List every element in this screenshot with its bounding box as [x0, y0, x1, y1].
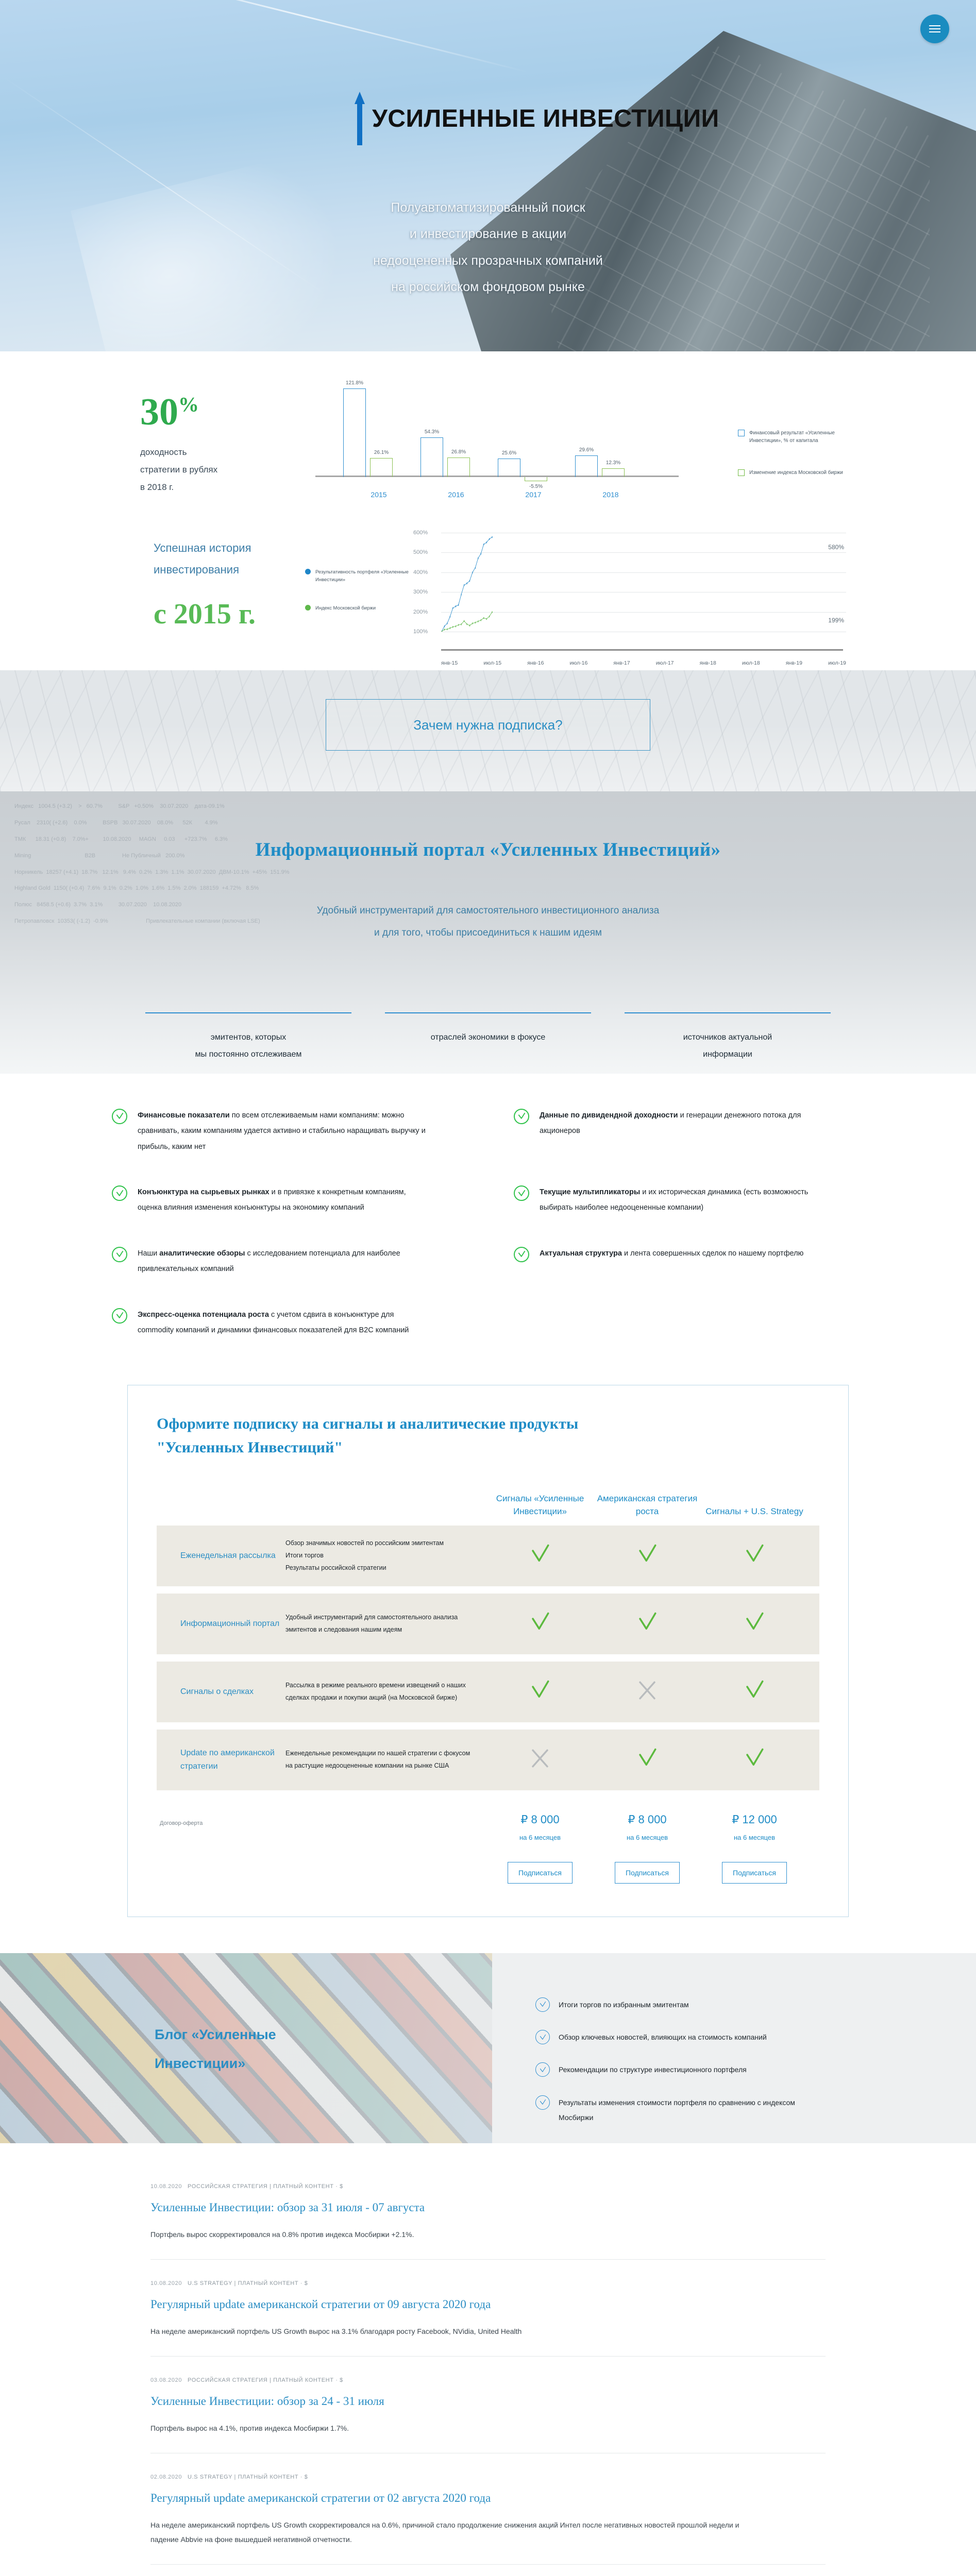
pricing-row-description: Удобный инструментарий для самостоятельн…: [285, 1612, 486, 1636]
x-tick-янв-19: янв-19: [786, 660, 802, 666]
feature-highlight: Экспресс-оценка потенциала роста: [138, 1311, 269, 1319]
paid-badge: $: [340, 2377, 343, 2383]
history-since: с 2015 г.: [154, 598, 305, 631]
feature-text: Актуальная структура и лента совершенных…: [540, 1246, 803, 1261]
pricing-row: Сигналы о сделкахРассылка в режиме реаль…: [157, 1662, 819, 1722]
check-icon: [744, 1612, 765, 1633]
data-point: [475, 622, 476, 623]
post-date: 02.08.2020: [150, 2474, 182, 2480]
pricing-mark-check: [594, 1544, 701, 1568]
pricing-mark-check: [701, 1612, 808, 1636]
check-icon: [744, 1680, 765, 1701]
feature-highlight: Данные по дивидендной доходности: [540, 1111, 678, 1120]
price-combo-period: на 6 месяцев: [701, 1834, 808, 1841]
feature-item: Наши аналитические обзоры с исследование…: [112, 1246, 462, 1277]
check-icon: [529, 1612, 551, 1633]
feature-item: Данные по дивидендной доходности и генер…: [514, 1108, 864, 1155]
legend-item-strategy: Финансовый результат «Усиленные Инвестиц…: [738, 429, 867, 445]
x-axis-ticks: янв-15июл-15янв-16июл-16янв-17июл-17янв-…: [441, 660, 846, 666]
check-circle-icon: [112, 1247, 127, 1262]
portal-title: Информационный портал «Усиленных Инвести…: [0, 839, 976, 861]
counter-issuers-caption: эмитентов, которых мы постоянно отслежив…: [145, 1029, 351, 1063]
x-tick-июл-17: июл-17: [656, 660, 674, 666]
check-icon: [636, 1748, 658, 1769]
bar-value-label: 25.6%: [502, 450, 516, 456]
bar-chart-row: 30% доходность стратегии в рублях в 2018…: [109, 380, 867, 510]
hero-subtitle-line-4: на российском фондовом рынке: [176, 274, 800, 300]
bar-2015-index: 26.1%: [370, 458, 393, 477]
y-tick-400%: 400%: [413, 569, 428, 575]
blog-banner-section: Блог «Усиленные Инвестиции» Итоги торгов…: [0, 1953, 976, 2143]
pricing-mark-check: [594, 1748, 701, 1772]
post-item: 10.08.2020 U.S STRATEGY | ПЛАТНЫЙ КОНТЕН…: [150, 2280, 826, 2357]
post-category[interactable]: РОССИЙСКАЯ СТРАТЕГИЯ | ПЛАТНЫЙ КОНТЕНТ: [188, 2183, 334, 2190]
feature-item: Экспресс-оценка потенциала роста с учето…: [112, 1307, 462, 1338]
post-title[interactable]: Усиленные Инвестиции: обзор за 31 июля -…: [150, 2201, 826, 2214]
data-point: [475, 567, 476, 568]
pricing-row-description: Еженедельные рекомендации по нашей страт…: [285, 1748, 486, 1772]
counter-sources-caption: источников актуальной информации: [625, 1029, 831, 1063]
pricing-subscribe-row: Подписаться Подписаться Подписаться: [157, 1862, 819, 1884]
blog-benefit-text: Обзор ключевых новостей, влияющих на сто…: [559, 2030, 767, 2045]
pricing-row: Update по американской стратегииЕженедел…: [157, 1730, 819, 1790]
subscribe-cell-us-growth: Подписаться: [594, 1862, 701, 1884]
data-point: [458, 624, 459, 625]
performance-section: 30% доходность стратегии в рублях в 2018…: [0, 351, 976, 670]
legend-label-strategy: Финансовый результат «Усиленные Инвестиц…: [749, 429, 867, 445]
why-subscribe-button[interactable]: Зачем нужна подписка?: [326, 699, 650, 751]
feature-highlight: Финансовые показатели: [138, 1111, 230, 1120]
check-circle-icon: [514, 1185, 529, 1201]
data-point: [447, 629, 447, 630]
check-icon: [529, 1680, 551, 1701]
x-tick-июл-19: июл-19: [828, 660, 846, 666]
data-point: [456, 625, 456, 627]
bar-value-label: 121.8%: [346, 380, 363, 386]
data-point: [444, 625, 445, 627]
pricing-row: Информационный порталУдобный инструмента…: [157, 1594, 819, 1654]
post-date: 03.08.2020: [150, 2377, 182, 2383]
pricing-prices-row: Договор-оферта ₽ 8 000 на 6 месяцев ₽ 8 …: [157, 1813, 819, 1841]
pricing-row: Еженедельная рассылкаОбзор значимых ново…: [157, 1526, 819, 1586]
gridline: [441, 592, 846, 592]
legend-dot-green: [305, 605, 311, 611]
feature-item: Финансовые показатели по всем отслеживае…: [112, 1108, 462, 1155]
feature-item: Текущие мультипликаторы и их историческа…: [514, 1184, 864, 1216]
gridline: [441, 552, 846, 553]
pricing-row-name: Информационный портал: [157, 1606, 285, 1642]
line-chart-card: Успешная история инвестирования с 2015 г…: [0, 523, 976, 670]
data-point: [452, 607, 453, 609]
feature-text: Экспресс-оценка потенциала роста с учето…: [138, 1307, 426, 1338]
paid-badge: $: [305, 2280, 308, 2286]
end-label-1: 199%: [828, 617, 844, 624]
pricing-mark-check: [486, 1544, 594, 1568]
hero-subtitle: Полуавтоматизированный поиск и инвестиро…: [176, 195, 800, 300]
returns-headline: 30%: [140, 394, 315, 430]
post-meta: 10.08.2020 РОССИЙСКАЯ СТРАТЕГИЯ | ПЛАТНЫ…: [150, 2183, 826, 2190]
counter-industries-caption: отраслей экономики в фокусе: [385, 1029, 591, 1046]
history-title: Успешная история инвестирования: [154, 537, 305, 581]
post-category[interactable]: РОССИЙСКАЯ СТРАТЕГИЯ | ПЛАТНЫЙ КОНТЕНТ: [188, 2377, 334, 2383]
site-logo[interactable]: УСИЛЕННЫЕ ИНВЕСТИЦИИ: [176, 92, 800, 145]
data-point: [450, 627, 450, 629]
blog-benefit-item: Итоги торгов по избранным эмитентам: [535, 1997, 976, 2012]
subscribe-button-combo[interactable]: Подписаться: [722, 1862, 787, 1884]
portal-header: Информационный портал «Усиленных Инвести…: [0, 839, 976, 944]
bar-2016-strategy: 54.3%: [420, 437, 443, 477]
hero-content: УСИЛЕННЫЕ ИНВЕСТИЦИИ Полуавтоматизирован…: [176, 0, 800, 300]
y-tick-500%: 500%: [413, 549, 428, 555]
hero-subtitle-line-3: недооцененных прозрачных компаний: [176, 248, 800, 274]
hero-section: УСИЛЕННЫЕ ИНВЕСТИЦИИ Полуавтоматизирован…: [0, 0, 976, 351]
shipping-containers-photo: Блог «Усиленные Инвестиции»: [0, 1953, 492, 2143]
legend-label-index: Изменение индекса Московской биржи: [749, 469, 843, 477]
cross-icon: [529, 1748, 551, 1769]
legend-item-index: Изменение индекса Московской биржи: [738, 469, 867, 477]
pricing-row-name: Еженедельная рассылка: [157, 1538, 285, 1574]
pricing-section: Оформите подписку на сигналы и аналитиче…: [0, 1380, 976, 1953]
bar-value-label: 12.3%: [606, 460, 620, 466]
data-point: [478, 557, 478, 559]
post-item: 03.08.2020 РОССИЙСКАЯ СТРАТЕГИЯ | ПЛАТНЫ…: [150, 2377, 826, 2453]
feature-highlight: аналитические обзоры: [159, 1249, 245, 1258]
pricing-row-name: Сигналы о сделках: [157, 1674, 285, 1710]
data-point: [442, 631, 442, 632]
feature-highlight: Текущие мультипликаторы: [540, 1188, 640, 1196]
data-point: [483, 544, 484, 545]
y-tick-300%: 300%: [413, 589, 428, 595]
post-date: 10.08.2020: [150, 2183, 182, 2190]
burger-line-3: [929, 31, 940, 32]
feature-highlight: Актуальная структура: [540, 1249, 622, 1258]
blog-benefit-item: Обзор ключевых новостей, влияющих на сто…: [535, 2030, 976, 2045]
cross-icon: [636, 1680, 658, 1701]
portal-lead-line-1: Удобный инструментарий для самостоятельн…: [0, 900, 976, 922]
data-point: [461, 623, 462, 625]
blog-benefit-text: Итоги торгов по избранным эмитентам: [559, 1997, 689, 2012]
post-category[interactable]: U.S STRATEGY | ПЛАТНЫЙ КОНТЕНТ: [188, 2280, 298, 2286]
pricing-row-description: Рассылка в режиме реального времени изве…: [285, 1680, 486, 1704]
data-point: [478, 620, 478, 622]
check-circle-icon: [535, 2062, 550, 2077]
returns-summary: 30% доходность стратегии в рублях в 2018…: [109, 394, 315, 496]
blog-banner-title: Блог «Усиленные Инвестиции»: [155, 2020, 276, 2078]
data-point: [486, 618, 487, 620]
pricing-table: Оформите подписку на сигналы и аналитиче…: [127, 1385, 849, 1917]
portal-lead: Удобный инструментарий для самостоятельн…: [0, 900, 976, 944]
features-grid: Финансовые показатели по всем отслеживае…: [112, 1108, 864, 1338]
bar-chart-legend: Финансовый результат «Усиленные Инвестиц…: [738, 414, 867, 477]
post-title[interactable]: Усиленные Инвестиции: обзор за 24 - 31 и…: [150, 2395, 826, 2408]
data-point: [489, 616, 490, 617]
line-chart-row: Успешная история инвестирования с 2015 г…: [109, 529, 867, 639]
line-series: [441, 529, 493, 632]
data-point: [469, 580, 470, 582]
counter-sources: источников актуальной информации: [625, 988, 831, 1063]
x-label-2015: 2015: [340, 490, 417, 499]
bar-value-label: 26.8%: [451, 449, 466, 455]
posts-section: 10.08.2020 РОССИЙСКАЯ СТРАТЕГИЯ | ПЛАТНЫ…: [0, 2143, 976, 2576]
pricing-mark-cross: [594, 1680, 701, 1704]
post-date: 10.08.2020: [150, 2280, 182, 2286]
pricing-header-row: Сигналы «Усиленные Инвестиции» Американс…: [157, 1492, 819, 1518]
counter-divider: [625, 1012, 831, 1013]
pricing-title: Оформите подписку на сигналы и аналитиче…: [157, 1412, 819, 1460]
offer-agreement-link[interactable]: Договор-оферта: [157, 1813, 486, 1826]
x-tick-янв-16: янв-16: [527, 660, 544, 666]
legend-dot-blue: [305, 569, 311, 574]
y-tick-600%: 600%: [413, 530, 428, 536]
check-circle-icon: [514, 1109, 529, 1124]
feature-item: Актуальная структура и лента совершенных…: [514, 1246, 864, 1277]
post-item: 02.08.2020 U.S STRATEGY | ПЛАТНЫЙ КОНТЕН…: [150, 2474, 826, 2565]
bar-value-label: 54.3%: [425, 429, 439, 435]
series-line-0: [442, 537, 492, 632]
y-tick-100%: 100%: [413, 629, 428, 635]
x-tick-янв-15: янв-15: [441, 660, 458, 666]
subscribe-cell-signals: Подписаться: [486, 1862, 594, 1884]
data-point: [489, 538, 490, 540]
subscribe-cell-combo: Подписаться: [701, 1862, 808, 1884]
data-point: [444, 629, 445, 630]
post-meta: 10.08.2020 U.S STRATEGY | ПЛАТНЫЙ КОНТЕН…: [150, 2280, 826, 2286]
pricing-mark-check: [701, 1748, 808, 1772]
legend-swatch-blue: [738, 430, 745, 436]
data-point: [461, 594, 462, 595]
price-us-growth: ₽ 8 000 на 6 месяцев: [594, 1813, 701, 1841]
counter-industries-number: [385, 988, 591, 1011]
counter-divider: [145, 1012, 351, 1013]
data-point: [486, 541, 487, 543]
check-icon: [744, 1544, 765, 1565]
legend-label-moex: Индекс Московской биржи: [315, 604, 376, 612]
data-point: [450, 616, 450, 617]
bar-value-label: 26.1%: [374, 450, 389, 455]
gridline: [441, 533, 846, 533]
x-axis-bar: [441, 649, 843, 651]
paid-badge: $: [305, 2474, 308, 2480]
logo-text: УСИЛЕННЫЕ ИНВЕСТИЦИИ: [372, 105, 719, 133]
blog-benefit-text: Рекомендации по структуре инвестиционног…: [559, 2062, 747, 2077]
pricing-mark-check: [594, 1612, 701, 1636]
legend-label-portfolio: Результативность портфеля «Усиленные Инв…: [315, 568, 413, 584]
check-icon: [529, 1544, 551, 1565]
check-circle-icon: [535, 1997, 550, 2012]
post-excerpt: Портфель вырос на 4.1%, против индекса М…: [150, 2421, 759, 2435]
hero-subtitle-line-1: Полуавтоматизированный поиск: [176, 195, 800, 221]
feature-prefix: Наши: [138, 1249, 159, 1258]
blog-benefit-text: Результаты изменения стоимости портфеля …: [559, 2095, 801, 2126]
bar-2017-strategy: 25.6%: [498, 459, 520, 477]
legend-item-portfolio: Результативность портфеля «Усиленные Инв…: [305, 568, 413, 584]
series-line-1: [442, 612, 492, 632]
bar-chart-plot: 121.8%26.1%201554.3%26.8%201625.6%-5.5%2…: [315, 380, 738, 509]
x-tick-янв-18: янв-18: [700, 660, 716, 666]
bar-value-label: 29.6%: [579, 447, 594, 453]
data-point: [458, 604, 459, 606]
post-category[interactable]: U.S STRATEGY | ПЛАТНЫЙ КОНТЕНТ: [188, 2474, 298, 2480]
feature-text: Данные по дивидендной доходности и генер…: [540, 1108, 828, 1139]
legend-item-moex: Индекс Московской биржи: [305, 604, 413, 612]
bar-chart: 121.8%26.1%201554.3%26.8%201625.6%-5.5%2…: [315, 380, 738, 510]
check-circle-icon: [112, 1109, 127, 1124]
pricing-column-us-growth: Американская стратегия роста: [594, 1492, 701, 1518]
feature-text: Текущие мультипликаторы и их историческа…: [540, 1184, 828, 1216]
counter-sources-number: [625, 988, 831, 1011]
hero-subtitle-line-2: и инвестирование в акции: [176, 221, 800, 247]
blog-benefit-item: Рекомендации по структуре инвестиционног…: [535, 2062, 976, 2077]
x-tick-июл-16: июл-16: [570, 660, 588, 666]
bar-chart-card: 30% доходность стратегии в рублях в 2018…: [0, 351, 976, 523]
post-excerpt: На неделе американский портфель US Growt…: [150, 2325, 759, 2338]
features-section: Финансовые показатели по всем отслеживае…: [0, 1074, 976, 1380]
bar-2015-strategy: 121.8%: [343, 388, 366, 477]
burger-line-1: [929, 25, 940, 26]
price-us-growth-period: на 6 месяцев: [594, 1834, 701, 1841]
pricing-header-spacer: [157, 1492, 486, 1518]
check-circle-icon: [535, 2030, 550, 2044]
data-point: [452, 626, 453, 628]
burger-line-2: [929, 28, 940, 29]
landing-page: УСИЛЕННЫЕ ИНВЕСТИЦИИ Полуавтоматизирован…: [0, 0, 976, 2576]
data-point: [456, 605, 456, 607]
subscribe-button-signals[interactable]: Подписаться: [508, 1862, 573, 1884]
x-tick-янв-17: янв-17: [613, 660, 630, 666]
pricing-row-name: Update по американской стратегии: [157, 1735, 285, 1784]
feature-item: Конъюнктура на сырьевых рынках и в привя…: [112, 1184, 462, 1216]
data-point: [472, 572, 473, 573]
data-point: [467, 583, 467, 584]
x-tick-июл-18: июл-18: [742, 660, 760, 666]
line-chart-plot: янв-15июл-15янв-16июл-16янв-17июл-17янв-…: [413, 529, 846, 639]
feature-text: Конъюнктура на сырьевых рынках и в привя…: [138, 1184, 426, 1216]
portal-section: Индекс 1004.5 (+3.2) > 60.7% S&P +0.50% …: [0, 791, 976, 1074]
counter-industries: отраслей экономики в фокусе: [385, 988, 591, 1063]
check-icon: [636, 1544, 658, 1565]
price-signals-amount: ₽ 8 000: [486, 1813, 594, 1826]
post-meta: 02.08.2020 U.S STRATEGY | ПЛАТНЫЙ КОНТЕН…: [150, 2474, 826, 2480]
line-chart-legend: Результативность портфеля «Усиленные Инв…: [305, 556, 413, 613]
post-item: 10.08.2020 РОССИЙСКАЯ СТРАТЕГИЯ | ПЛАТНЫ…: [150, 2183, 826, 2260]
data-point: [472, 622, 473, 624]
data-point: [447, 622, 447, 624]
y-tick-200%: 200%: [413, 609, 428, 615]
check-circle-icon: [112, 1308, 127, 1324]
pricing-column-combo: Сигналы + U.S. Strategy: [701, 1505, 808, 1518]
up-arrow-icon: [355, 92, 365, 145]
bar-value-label: -5.5%: [529, 484, 543, 489]
check-icon: [744, 1748, 765, 1769]
data-point: [464, 620, 464, 622]
post-meta: 03.08.2020 РОССИЙСКАЯ СТРАТЕГИЯ | ПЛАТНЫ…: [150, 2377, 826, 2383]
pricing-mark-check: [701, 1680, 808, 1704]
pricing-mark-check: [701, 1544, 808, 1568]
pricing-rows: Еженедельная рассылкаОбзор значимых ново…: [157, 1526, 819, 1790]
subscribe-button-us-growth[interactable]: Подписаться: [615, 1862, 680, 1884]
price-signals-period: на 6 месяцев: [486, 1834, 594, 1841]
gridline: [441, 632, 846, 632]
posts-list: 10.08.2020 РОССИЙСКАЯ СТРАТЕГИЯ | ПЛАТНЫ…: [150, 2183, 826, 2576]
pricing-row-description: Обзор значимых новостей по российским эм…: [285, 1537, 486, 1574]
blog-benefit-item: Результаты изменения стоимости портфеля …: [535, 2095, 976, 2126]
check-icon: [636, 1612, 658, 1633]
x-label-2016: 2016: [417, 490, 495, 499]
data-point: [467, 623, 467, 625]
post-title[interactable]: Регулярный update американской стратегии…: [150, 2492, 826, 2505]
gridline: [441, 612, 846, 613]
data-point: [492, 611, 493, 613]
x-label-2018: 2018: [572, 490, 649, 499]
feature-highlight: Конъюнктура на сырьевых рынках: [138, 1188, 270, 1196]
blog-benefits-list: Итоги торгов по избранным эмитентамОбзор…: [492, 1953, 976, 2143]
feature-text: Финансовые показатели по всем отслеживае…: [138, 1108, 426, 1155]
check-circle-icon: [112, 1185, 127, 1201]
price-combo: ₽ 12 000 на 6 месяцев: [701, 1813, 808, 1841]
history-summary: Успешная история инвестирования с 2015 г…: [109, 537, 305, 631]
counter-issuers-number: [145, 988, 351, 1011]
subscription-cta-band: Зачем нужна подписка?: [0, 670, 976, 791]
pricing-mark-cross: [486, 1748, 594, 1772]
bar-2018-strategy: 29.6%: [575, 455, 598, 477]
check-circle-icon: [535, 2095, 550, 2110]
data-point: [464, 584, 464, 586]
portal-counters: эмитентов, которых мы постоянно отслежив…: [145, 988, 831, 1063]
counter-divider: [385, 1012, 591, 1013]
x-tick-июл-15: июл-15: [483, 660, 501, 666]
data-point: [481, 553, 481, 554]
end-label-0: 580%: [828, 544, 844, 551]
hamburger-menu-icon[interactable]: [920, 14, 949, 43]
bar-2017-index: -5.5%: [525, 477, 547, 481]
price-signals: ₽ 8 000 на 6 месяцев: [486, 1813, 594, 1841]
data-point: [469, 624, 470, 626]
returns-caption: доходность стратегии в рублях в 2018 г.: [140, 444, 315, 496]
portal-lead-line-2: и для того, чтобы присоединиться к нашим…: [0, 922, 976, 944]
feature-rest: и лента совершенных сделок по нашему пор…: [622, 1249, 803, 1258]
price-combo-amount: ₽ 12 000: [701, 1813, 808, 1826]
data-point: [483, 617, 484, 619]
price-us-growth-amount: ₽ 8 000: [594, 1813, 701, 1826]
bar-2018-index: 12.3%: [602, 468, 625, 477]
pricing-mark-check: [486, 1680, 594, 1704]
subscribe-spacer: [157, 1862, 486, 1884]
gridline: [441, 572, 846, 573]
data-point: [481, 619, 481, 621]
data-point: [492, 536, 493, 538]
paid-badge: $: [340, 2183, 343, 2190]
legend-swatch-green: [738, 469, 745, 476]
bar-2016-index: 26.8%: [447, 457, 470, 477]
check-circle-icon: [514, 1247, 529, 1262]
counter-issuers: эмитентов, которых мы постоянно отслежив…: [145, 988, 351, 1063]
post-excerpt: На неделе американский портфель US Growt…: [150, 2518, 759, 2547]
x-label-2017: 2017: [495, 490, 572, 499]
post-title[interactable]: Регулярный update американской стратегии…: [150, 2298, 826, 2311]
post-excerpt: Портфель вырос скорректировался на 0.8% …: [150, 2228, 759, 2242]
pricing-column-signals: Сигналы «Усиленные Инвестиции»: [486, 1492, 594, 1518]
feature-text: Наши аналитические обзоры с исследование…: [138, 1246, 426, 1277]
pricing-mark-check: [486, 1612, 594, 1636]
